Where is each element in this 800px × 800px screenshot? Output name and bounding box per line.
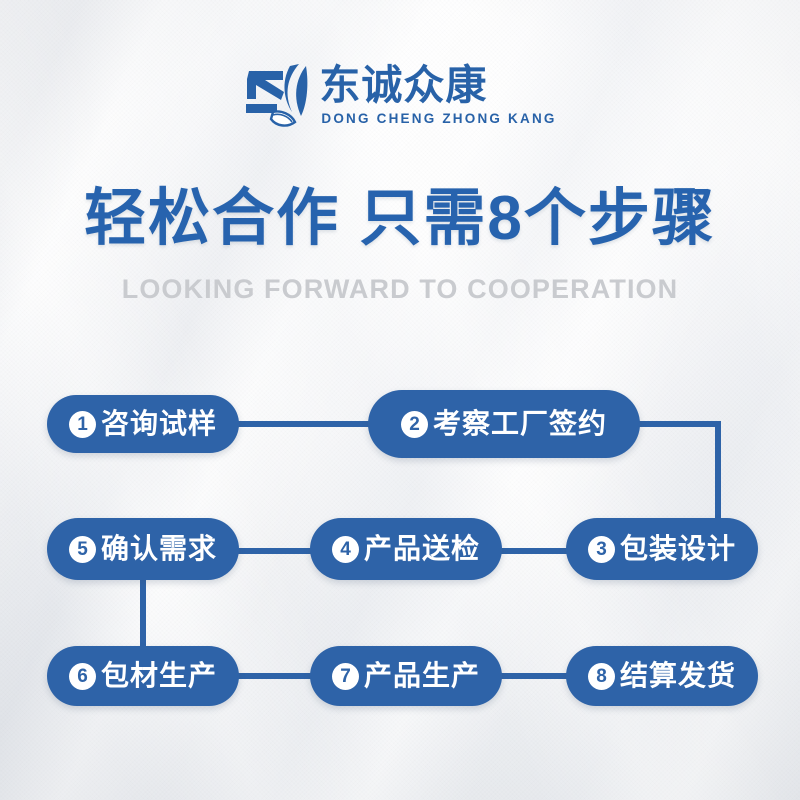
flow-step-7-number: 7 — [332, 663, 359, 690]
flow-step-3[interactable]: 3 包装设计 — [566, 518, 758, 580]
flow-step-8[interactable]: 8 结算发货 — [566, 646, 758, 706]
flow-step-4-label: 产品送检 — [364, 535, 480, 563]
flow-step-1-number: 1 — [69, 411, 96, 438]
flow-step-5[interactable]: 5 确认需求 — [47, 518, 239, 580]
flow-step-3-number: 3 — [588, 536, 615, 563]
poster-content: 东诚众康 DONG CHENG ZHONG KANG 轻松合作 只需8个步骤 L… — [0, 0, 800, 800]
flow-step-3-label: 包装设计 — [620, 535, 736, 563]
flow-step-2-number: 2 — [401, 411, 428, 438]
process-flow-diagram: 1 咨询试样 2 考察工厂签约 5 确认需求 4 产品送检 3 包装设计 6 — [0, 0, 800, 800]
flow-step-4-number: 4 — [332, 536, 359, 563]
flow-step-8-label: 结算发货 — [620, 662, 736, 690]
flow-step-5-number: 5 — [69, 536, 96, 563]
flow-step-7-label: 产品生产 — [364, 662, 480, 690]
flow-step-8-number: 8 — [588, 663, 615, 690]
flow-step-2-label: 考察工厂签约 — [433, 410, 607, 438]
flow-step-2[interactable]: 2 考察工厂签约 — [368, 390, 640, 458]
flow-step-6[interactable]: 6 包材生产 — [47, 646, 239, 706]
flow-step-6-number: 6 — [69, 663, 96, 690]
flow-step-4[interactable]: 4 产品送检 — [310, 518, 502, 580]
flow-step-1-label: 咨询试样 — [101, 410, 217, 438]
flow-step-6-label: 包材生产 — [101, 662, 217, 690]
poster-canvas: 东诚众康 DONG CHENG ZHONG KANG 轻松合作 只需8个步骤 L… — [0, 0, 800, 800]
flow-step-5-label: 确认需求 — [101, 535, 217, 563]
flow-step-1[interactable]: 1 咨询试样 — [47, 395, 239, 453]
flow-step-7[interactable]: 7 产品生产 — [310, 646, 502, 706]
